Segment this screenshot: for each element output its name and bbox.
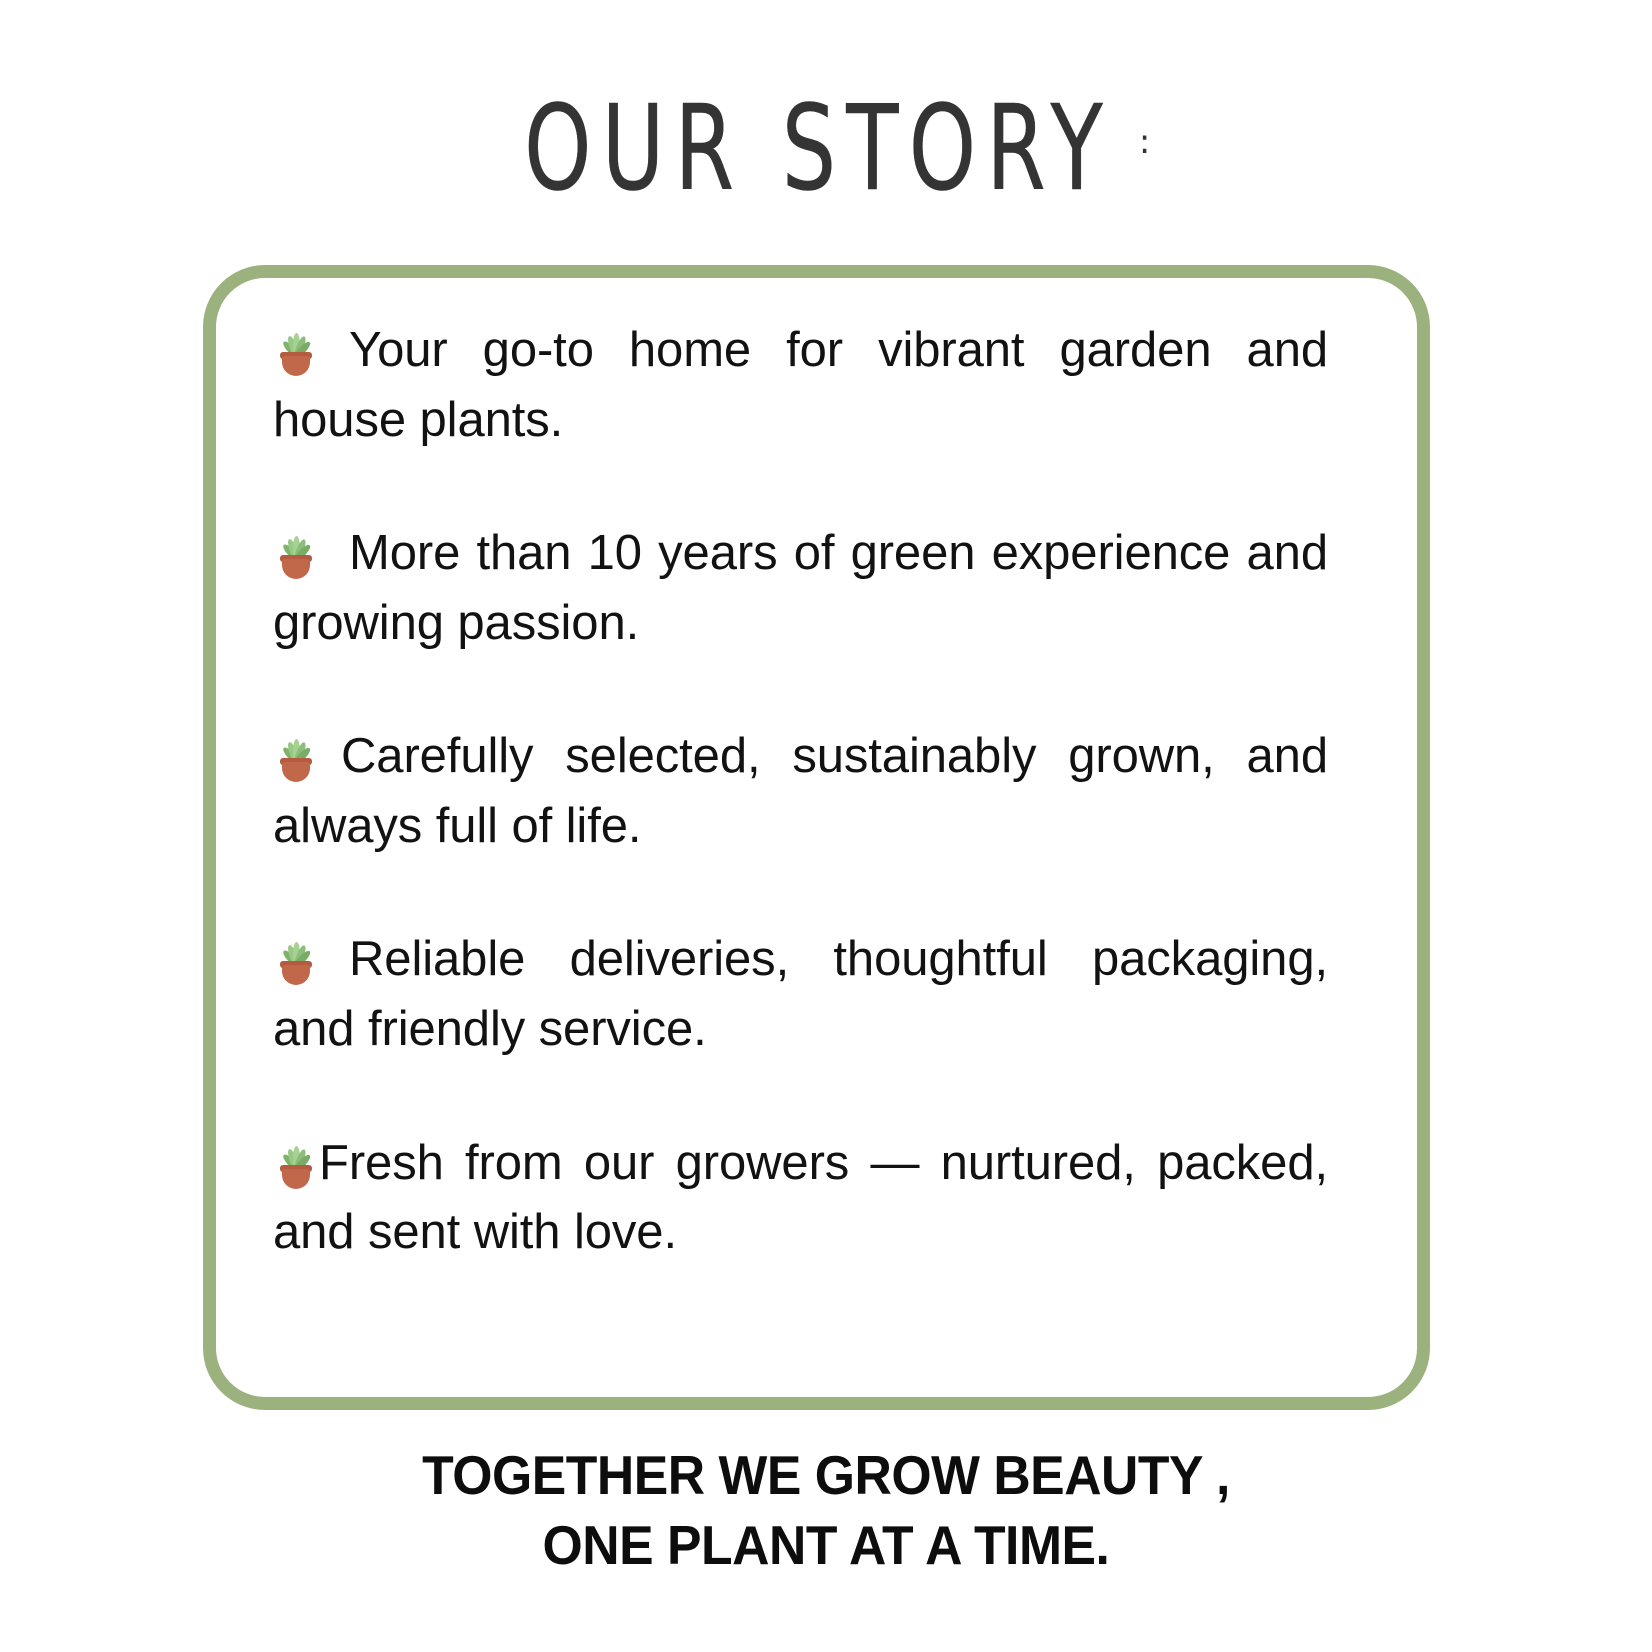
potted-plant-icon [273,326,319,376]
potted-plant-icon [273,935,319,985]
page-title-colon: : [1139,122,1150,162]
list-item-text: Fresh from our growers — nurtured, packe… [273,1136,1328,1260]
list-item: Fresh from our growers — nurtured, packe… [273,1129,1328,1268]
our-story-card: OUR STORY: Your go-to home for vibrant g… [0,0,1652,1652]
potted-plant-icon [273,1139,319,1189]
list-item: Reliable deliveries, thoughtful packagin… [273,925,1328,1064]
story-box: Your go-to home for vibrant garden and h… [203,265,1430,1410]
list-item-text: Your go-to home for vibrant garden and h… [273,323,1328,447]
story-box-content: Your go-to home for vibrant garden and h… [273,316,1328,1268]
tagline-line-2: ONE PLANT AT A TIME. [50,1510,1603,1580]
potted-plant-icon [273,529,319,579]
list-item: More than 10 years of green experience a… [273,519,1328,658]
page-title-text: OUR STORY [524,88,1113,212]
list-item-text: More than 10 years of green experience a… [273,526,1328,650]
page-title: OUR STORY: [0,88,1652,185]
potted-plant-icon [273,732,319,782]
tagline-line-1: TOGETHER WE GROW BEAUTY , [50,1440,1603,1510]
list-item: Your go-to home for vibrant garden and h… [273,316,1328,455]
list-item: Carefully selected, sustainably grown, a… [273,722,1328,861]
list-item-text: Reliable deliveries, thoughtful packagin… [273,932,1328,1056]
tagline: TOGETHER WE GROW BEAUTY , ONE PLANT AT A… [0,1440,1652,1581]
list-item-text: Carefully selected, sustainably grown, a… [273,729,1328,853]
